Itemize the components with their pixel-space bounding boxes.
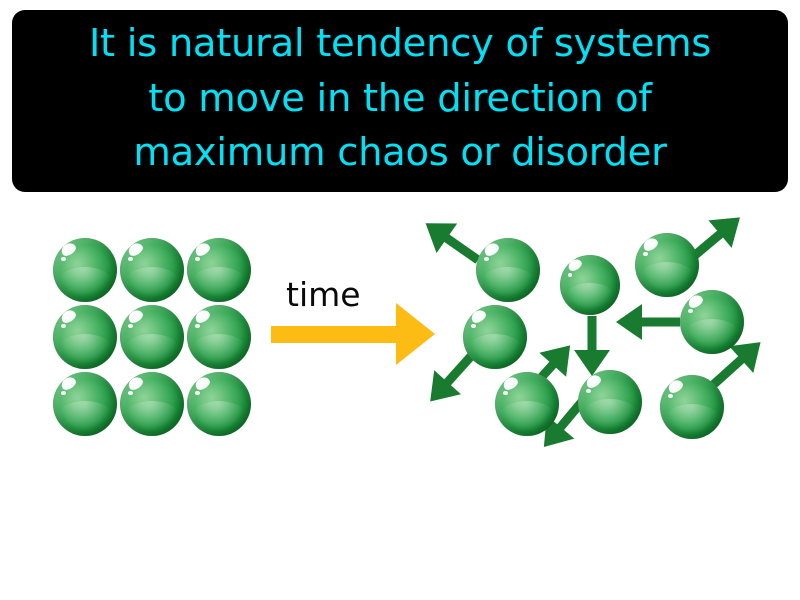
ordered-sphere — [53, 372, 117, 436]
disordered-sphere — [680, 290, 744, 354]
sphere-sheen — [640, 262, 694, 291]
disordered-sphere — [635, 233, 699, 297]
page-canvas: It is natural tendency of systems to mov… — [0, 0, 800, 600]
sphere-sheen — [685, 319, 739, 348]
sphere-sheen — [468, 334, 522, 363]
sphere-sheen — [500, 401, 554, 430]
disordered-sphere — [495, 372, 559, 436]
entropy-illustration: time — [0, 200, 800, 600]
sphere-sheen — [565, 283, 615, 311]
ordered-sphere — [187, 238, 251, 302]
ordered-sphere — [120, 305, 184, 369]
arrow-shaft — [636, 318, 680, 327]
time-arrow-head-icon — [396, 303, 435, 365]
ordered-sphere — [53, 238, 117, 302]
ordered-sphere — [120, 372, 184, 436]
sphere-sheen — [481, 267, 535, 296]
sphere-sheen — [125, 267, 179, 296]
definition-text: It is natural tendency of systems to mov… — [89, 17, 711, 181]
definition-banner: It is natural tendency of systems to mov… — [12, 10, 788, 192]
disordered-sphere — [463, 305, 527, 369]
ordered-sphere — [187, 372, 251, 436]
sphere-sheen — [58, 334, 112, 363]
sphere-sheen — [125, 334, 179, 363]
sphere-sheen — [58, 401, 112, 430]
disordered-sphere — [476, 238, 540, 302]
disordered-sphere — [578, 370, 642, 434]
sphere-sheen — [192, 334, 246, 363]
sphere-sheen — [665, 404, 719, 433]
disordered-sphere — [660, 375, 724, 439]
sphere-sheen — [192, 267, 246, 296]
sphere-sheen — [125, 401, 179, 430]
ordered-sphere — [120, 238, 184, 302]
ordered-sphere — [187, 305, 251, 369]
time-arrow-group: time — [268, 278, 440, 368]
time-label: time — [286, 278, 361, 311]
disordered-sphere — [560, 255, 620, 315]
arrow-head — [616, 304, 642, 340]
sphere-sheen — [583, 399, 637, 428]
sphere-sheen — [58, 267, 112, 296]
time-arrow-shaft — [271, 326, 399, 343]
sphere-sheen — [192, 401, 246, 430]
ordered-sphere — [53, 305, 117, 369]
